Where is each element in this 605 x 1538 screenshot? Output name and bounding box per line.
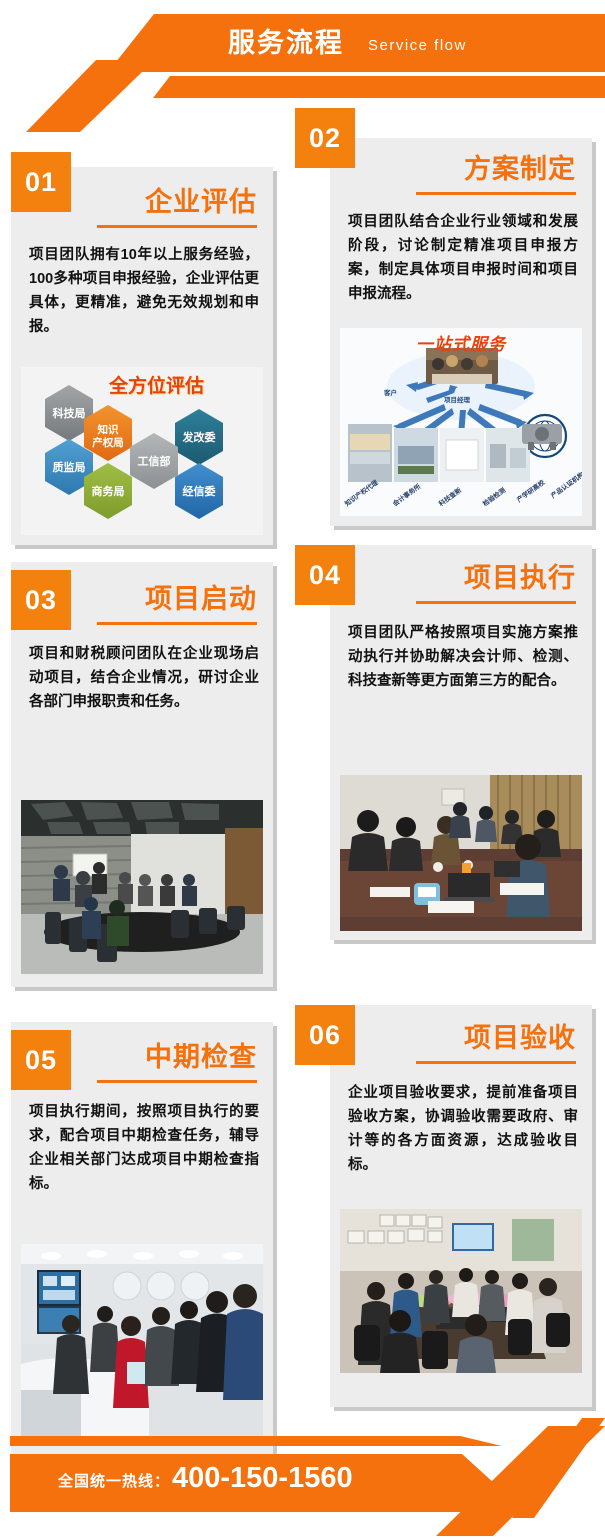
photo-conference-art [340,1209,582,1373]
footer-bar-thin [10,1436,605,1446]
card-title-02: 方案制定 [464,152,576,186]
card-rule-06 [416,1061,576,1064]
step-card-04[interactable]: 项目执行 项目团队严格按照项目实施方案推动执行并协助解决会计师、检测、科技查新等… [330,545,592,940]
page-title: 服务流程 [228,24,344,62]
photo-meeting-room [21,800,263,974]
page-footer: 全国统一热线： 400-150-1560 [0,1418,605,1538]
card-rule-03 [97,622,257,625]
hotline-number[interactable]: 400-150-1560 [172,1458,353,1498]
one-stop-arrows: ISO [340,328,582,516]
card-title-03: 项目启动 [145,582,257,616]
svg-text:知识: 知识 [98,423,119,436]
step-badge-06: 06 [295,1005,355,1065]
photo-worktable-art [340,775,582,931]
card-rule-01 [97,225,257,228]
svg-text:科技局: 科技局 [53,406,86,420]
page-subtitle: Service flow [368,34,467,58]
hex-diagram-title: 全方位评估 [109,371,204,398]
card-body-03: 项目和财税顾问团队在企业现场启动项目，结合企业情况，研讨企业各部门申报职责和任务… [29,642,259,714]
card-rule-04 [416,601,576,604]
svg-text:发改委: 发改委 [182,430,217,444]
one-stop-center-label-0: 客户 [384,387,397,397]
step-badge-05: 05 [11,1030,71,1090]
one-stop-center-label-1: 项目经理 [444,394,470,404]
step-card-01[interactable]: 企业评估 项目团队拥有10年以上服务经验，100多种项目申报经验，企业评估更具体… [11,167,273,545]
card-body-06: 企业项目验收要求，提前准备项目验收方案，协调验收需要政府、审计等的各方面资源，达… [348,1081,578,1177]
step-card-02[interactable]: 方案制定 项目团队结合企业行业领域和发展阶段，讨论制定精准项目申报方案，制定具体… [330,138,592,526]
svg-text:质监局: 质监局 [53,460,86,474]
photo-worktable [340,775,582,931]
card-title-05: 中期检查 [145,1040,257,1074]
svg-text:工信部: 工信部 [138,454,171,468]
service-flow-page: 服务流程 Service flow 企业评估 项目团队拥有10年以上服务经验，1… [0,0,605,1538]
step-badge-04: 04 [295,545,355,605]
card-body-02: 项目团队结合企业行业领域和发展阶段，讨论制定精准项目申报方案，制定具体项目申报时… [348,210,578,306]
hex-diagram-media: 全方位评估 科技局 [21,367,263,535]
card-body-04: 项目团队严格按照项目实施方案推动执行并协助解决会计师、检测、科技查新等更方面第三… [348,621,578,693]
card-title-01: 企业评估 [145,185,257,219]
one-stop-diagram-media: 一站式服务 [340,328,582,516]
hotline-label: 全国统一热线： [58,1466,170,1498]
svg-text:商务局: 商务局 [92,484,125,498]
card-rule-02 [416,192,576,195]
card-rule-05 [97,1080,257,1083]
card-body-01: 项目团队拥有10年以上服务经验，100多种项目申报经验，企业评估更具体，更精准，… [29,243,259,339]
card-title-06: 项目验收 [464,1021,576,1055]
step-card-06[interactable]: 项目验收 企业项目验收要求，提前准备项目验收方案，协调验收需要政府、审计等的各方… [330,1005,592,1407]
one-stop-title: 一站式服务 [416,330,506,355]
step-badge-02: 02 [295,108,355,168]
photo-conference [340,1209,582,1373]
card-title-04: 项目执行 [464,561,576,595]
svg-text:产权局: 产权局 [92,436,124,449]
step-badge-03: 03 [11,570,71,630]
card-body-05: 项目执行期间，按照项目执行的要求，配合项目中期检查任务，辅导企业相关部门达成项目… [29,1100,259,1196]
svg-text:经信委: 经信委 [183,484,217,498]
photo-lobby-visit [21,1244,263,1440]
photo-meeting-room-art [21,800,263,974]
photo-lobby-visit-art [21,1244,263,1440]
step-badge-01: 01 [11,152,71,212]
